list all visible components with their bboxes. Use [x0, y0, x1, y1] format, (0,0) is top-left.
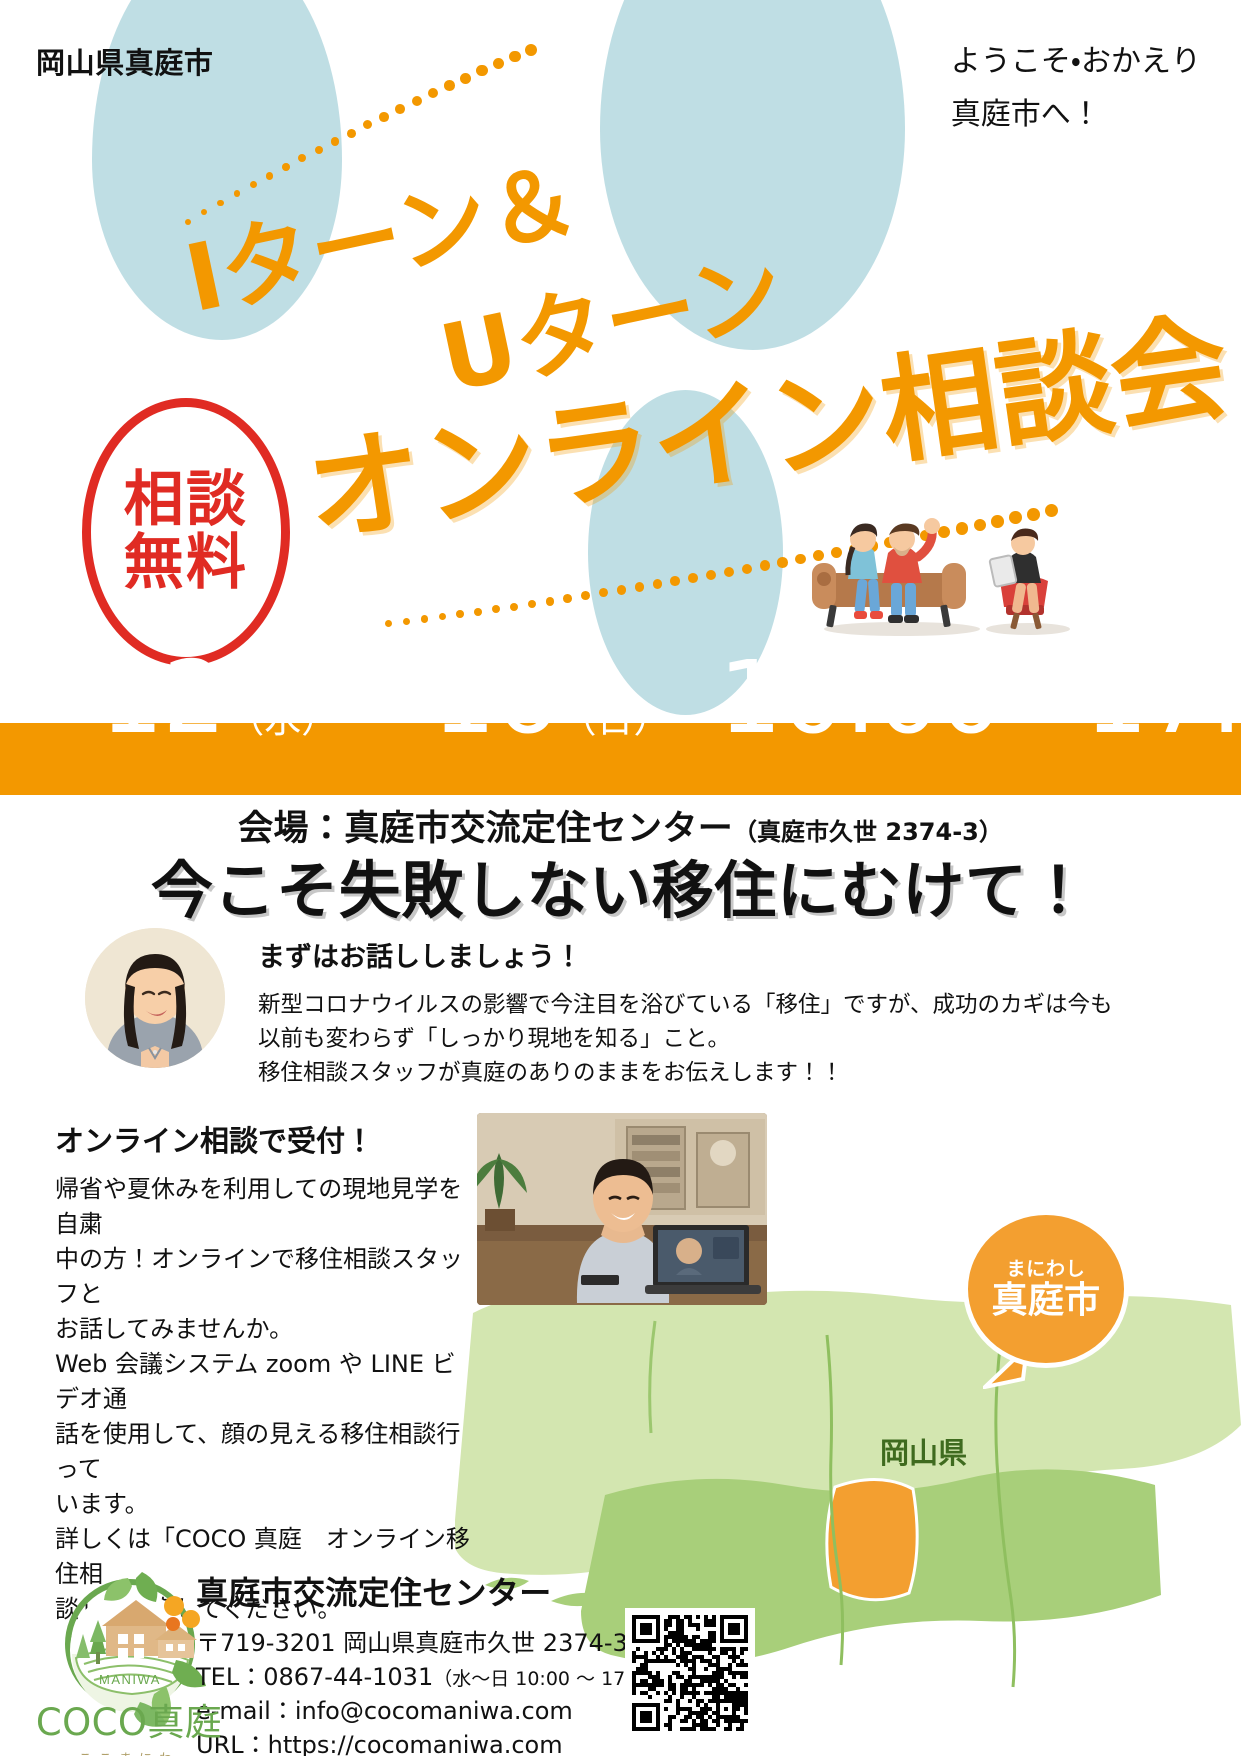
staff-avatar	[85, 928, 225, 1068]
main-headline: 今こそ失敗しない移住にむけて！	[0, 840, 1241, 930]
maniwa-city-callout: まにわし 真庭市	[963, 1210, 1129, 1368]
stamp-line-1: 相談	[124, 469, 249, 532]
online-body-line-1: 帰省や夏休みを利用しての現地見学を自粛	[55, 1172, 475, 1242]
staff-heading: まずはお話ししましょう！	[258, 935, 1158, 974]
callout-reading: まにわし	[1006, 1260, 1085, 1279]
welcome-message: ようこそ・おかえり 真庭市へ！	[951, 36, 1201, 141]
poster-root: 岡山県真庭市 ようこそ・おかえり 真庭市へ！ Iターン＆ Uターン オンライン相…	[0, 0, 1241, 1756]
event-time: 10:00~17:00	[719, 648, 1241, 748]
start-weekday: （水）	[227, 701, 338, 738]
decorative-blob-2	[600, 0, 905, 350]
contact-telephone: TEL：0867-44-1031（水〜日 10:00 〜 17:00）	[196, 1660, 675, 1694]
contact-tel-number: TEL：0867-44-1031	[196, 1663, 433, 1691]
online-body-line-5: 話を使用して、顔の見える移住相談行って	[55, 1417, 475, 1487]
online-meeting-photo	[477, 1113, 767, 1305]
date-range-mark: 〜	[352, 671, 424, 743]
logo-name-text: COCO真庭	[36, 1701, 222, 1744]
logo-wordmark: COCO真庭 ここまにわ	[34, 1692, 224, 1756]
contact-block: 真庭市交流定住センター 〒719-3201 岡山県真庭市久世 2374-3 TE…	[196, 1568, 675, 1756]
online-body-line-2: 中の方！オンラインで移住相談スタッフと	[55, 1242, 475, 1312]
staff-body-line-3: 移住相談スタッフが真庭のありのままをお伝えします！！	[258, 1056, 1158, 1090]
staff-body-line-1: 新型コロナウイルスの影響で今注目を浴びている「移住」ですが、成功のカギは今も	[258, 988, 1158, 1022]
end-day: 16	[432, 648, 557, 748]
contact-center-name: 真庭市交流定住センター	[196, 1568, 675, 1614]
staff-message: まずはお話ししましょう！ 新型コロナウイルスの影響で今注目を浴びている「移住」で…	[258, 935, 1158, 1091]
prefecture-label: 岡山県	[880, 1430, 967, 1472]
staff-body: 新型コロナウイルスの影響で今注目を浴びている「移住」ですが、成功のカギは今も 以…	[258, 988, 1158, 1091]
staff-body-line-2: 以前も変わらず「しっかり現地を知る」こと。	[258, 1022, 1158, 1056]
contact-url[interactable]: URL：https://cocomaniwa.com	[196, 1728, 675, 1756]
end-weekday: （日）	[560, 701, 671, 738]
prefecture-city-kicker: 岡山県真庭市	[36, 40, 213, 82]
contact-postal-address: 〒719-3201 岡山県真庭市久世 2374-3	[196, 1626, 675, 1660]
people-illustration	[790, 495, 1080, 640]
online-consultation-heading: オンライン相談で受付！	[55, 1118, 475, 1160]
callout-city-name: 真庭市	[991, 1283, 1100, 1319]
date-text-group: 12 （水） 〜 16 （日） 10:00~17:00	[0, 648, 1241, 751]
stamp-line-2: 無料	[124, 532, 249, 595]
online-consultation-body: 帰省や夏休みを利用しての現地見学を自粛 中の方！オンラインで移住相談スタッフと …	[55, 1172, 475, 1627]
start-day: 12	[100, 648, 225, 748]
qr-code[interactable]	[625, 1608, 755, 1738]
logo-inner-text: MANIWA	[99, 1672, 161, 1687]
online-body-line-6: います。	[55, 1487, 475, 1522]
welcome-line-2: 真庭市へ！	[951, 89, 1201, 142]
contact-email[interactable]: e-mail：info@cocomaniwa.com	[196, 1694, 675, 1728]
logo-reading-text: ここまにわ	[34, 1748, 224, 1756]
free-consultation-stamp: 相談 無料	[82, 398, 290, 666]
online-consultation-block: オンライン相談で受付！ 帰省や夏休みを利用しての現地見学を自粛 中の方！オンライ…	[55, 1118, 475, 1627]
welcome-line-1: ようこそ・おかえり	[951, 36, 1201, 89]
online-body-line-4: Web 会議システム zoom や LINE ビデオ通	[55, 1347, 475, 1417]
online-body-line-3: お話してみませんか。	[55, 1312, 475, 1347]
